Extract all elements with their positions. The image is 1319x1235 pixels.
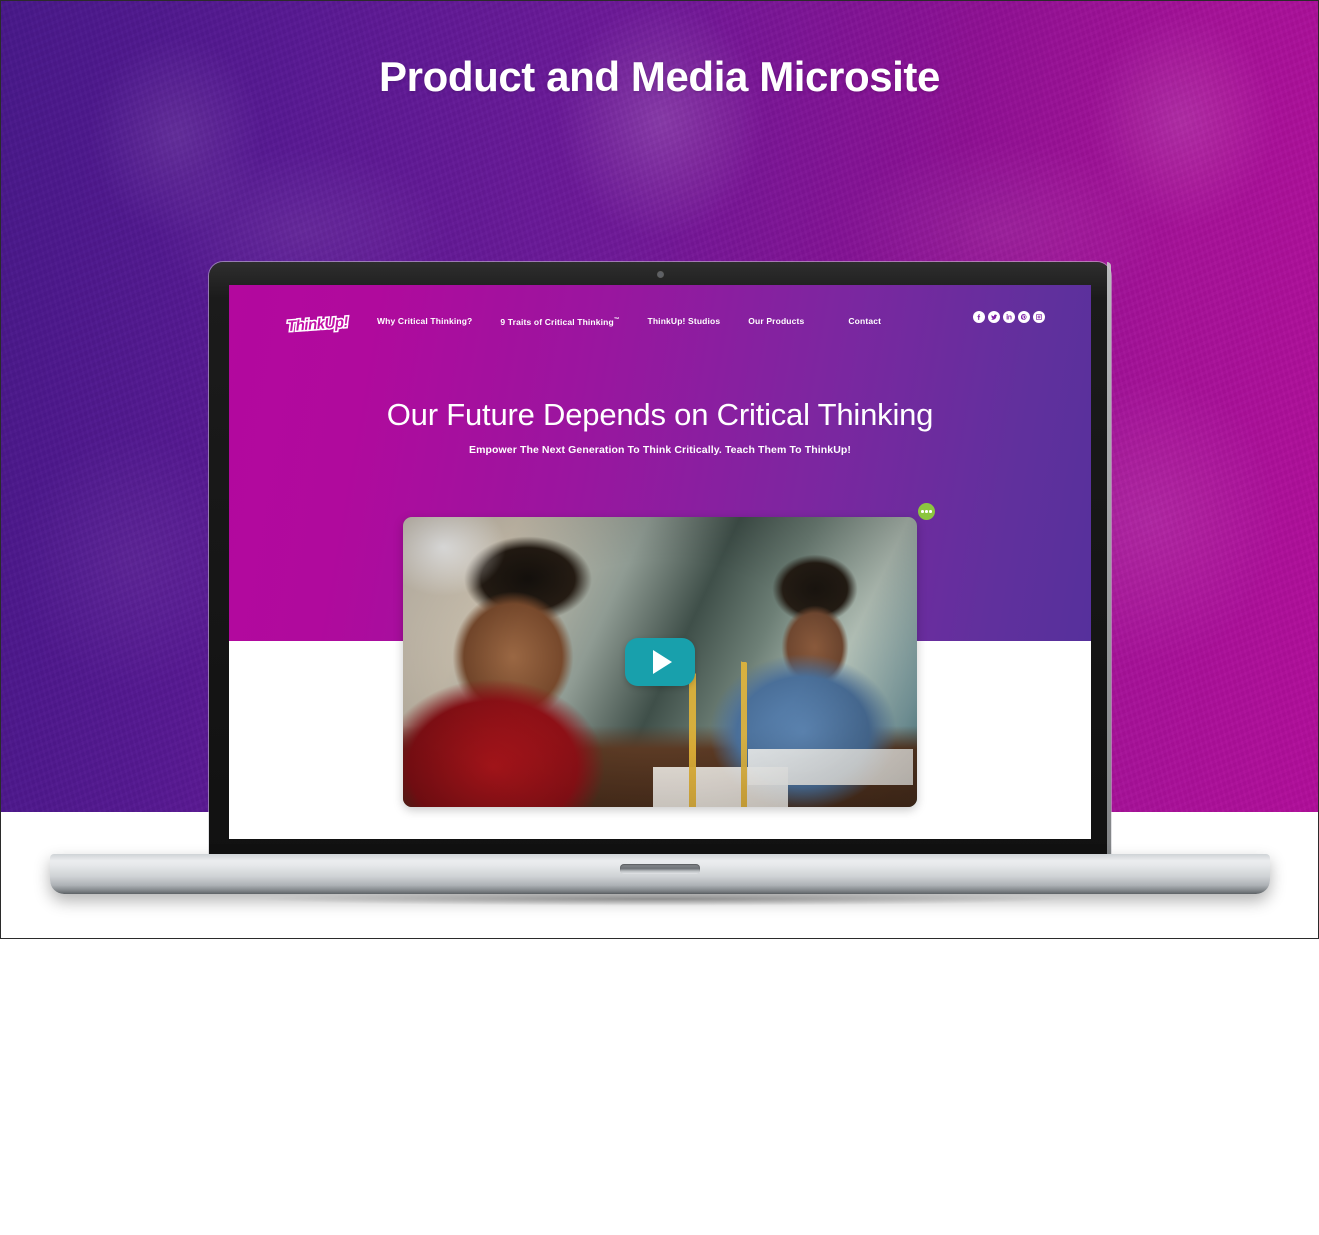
facebook-icon[interactable] (973, 311, 985, 323)
play-triangle (653, 650, 672, 674)
nav-9-traits-label: 9 Traits of Critical Thinking (500, 317, 613, 327)
site-navbar: ThinkUp! Why Critical Thinking? 9 Traits… (229, 305, 1091, 345)
nav-contact[interactable]: Contact (848, 314, 881, 328)
twitter-icon[interactable] (988, 311, 1000, 323)
play-icon[interactable] (625, 638, 695, 686)
nav-thinkup-studios[interactable]: ThinkUp! Studios (648, 314, 721, 328)
trademark-symbol: ™ (614, 317, 620, 323)
webcam-icon (658, 272, 663, 277)
dot (929, 510, 932, 513)
slide-canvas: Product and Media Microsite ThinkUp! Why… (0, 0, 1319, 1235)
nav-9-traits[interactable]: 9 Traits of Critical Thinking™ (500, 313, 619, 329)
laptop-shadow (120, 890, 1200, 908)
laptop-base-notch (620, 864, 700, 874)
instagram-icon[interactable] (1033, 311, 1045, 323)
more-options-icon[interactable] (918, 503, 935, 520)
laptop-screen: ThinkUp! Why Critical Thinking? 9 Traits… (229, 285, 1091, 839)
dot (925, 510, 928, 513)
pinterest-icon[interactable] (1018, 311, 1030, 323)
linkedin-icon[interactable] (1003, 311, 1015, 323)
hero-video-card[interactable] (403, 517, 917, 807)
social-links (973, 311, 1045, 323)
nav-why-critical-thinking[interactable]: Why Critical Thinking? (377, 314, 472, 328)
nav-our-products[interactable]: Our Products (748, 314, 804, 328)
laptop-mockup: ThinkUp! Why Critical Thinking? 9 Traits… (50, 262, 1270, 907)
logo-text: ThinkUp! (286, 313, 348, 334)
hero-subhead: Empower The Next Generation To Think Cri… (229, 444, 1091, 456)
thinkup-logo[interactable]: ThinkUp! (275, 311, 359, 337)
nav-links: Why Critical Thinking? 9 Traits of Criti… (377, 313, 881, 329)
slide-title: Product and Media Microsite (1, 53, 1318, 101)
dot (921, 510, 924, 513)
hero-headline: Our Future Depends on Critical Thinking (229, 397, 1091, 433)
laptop-base (50, 854, 1270, 894)
